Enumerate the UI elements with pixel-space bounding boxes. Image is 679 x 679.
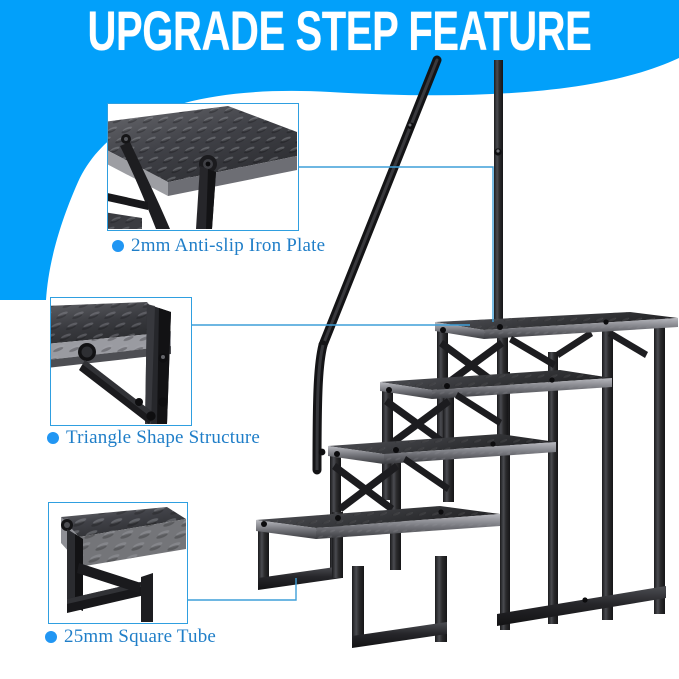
page-title: UPGRADE STEP FEATURE [68,0,611,63]
callout-2-text: Triangle Shape Structure [66,427,260,449]
callout-1-label: 2mm Anti-slip Iron Plate [112,235,325,257]
step-2 [328,434,556,570]
rear-frame [497,318,666,630]
callout-1-text: 2mm Anti-slip Iron Plate [131,235,325,257]
bullet-dot-icon [47,432,59,444]
callout-2-label: Triangle Shape Structure [47,427,260,449]
callout-3-image [48,502,188,624]
callout-2-image [50,297,192,426]
step-1-bottom [256,506,500,648]
callout-3-label: 25mm Square Tube [45,626,216,648]
infographic-canvas: UPGRADE STEP FEATURE [0,0,679,679]
bullet-dot-icon [112,240,124,252]
callout-1-image [107,103,299,231]
bullet-dot-icon [45,631,57,643]
callout-3-text: 25mm Square Tube [64,626,216,648]
